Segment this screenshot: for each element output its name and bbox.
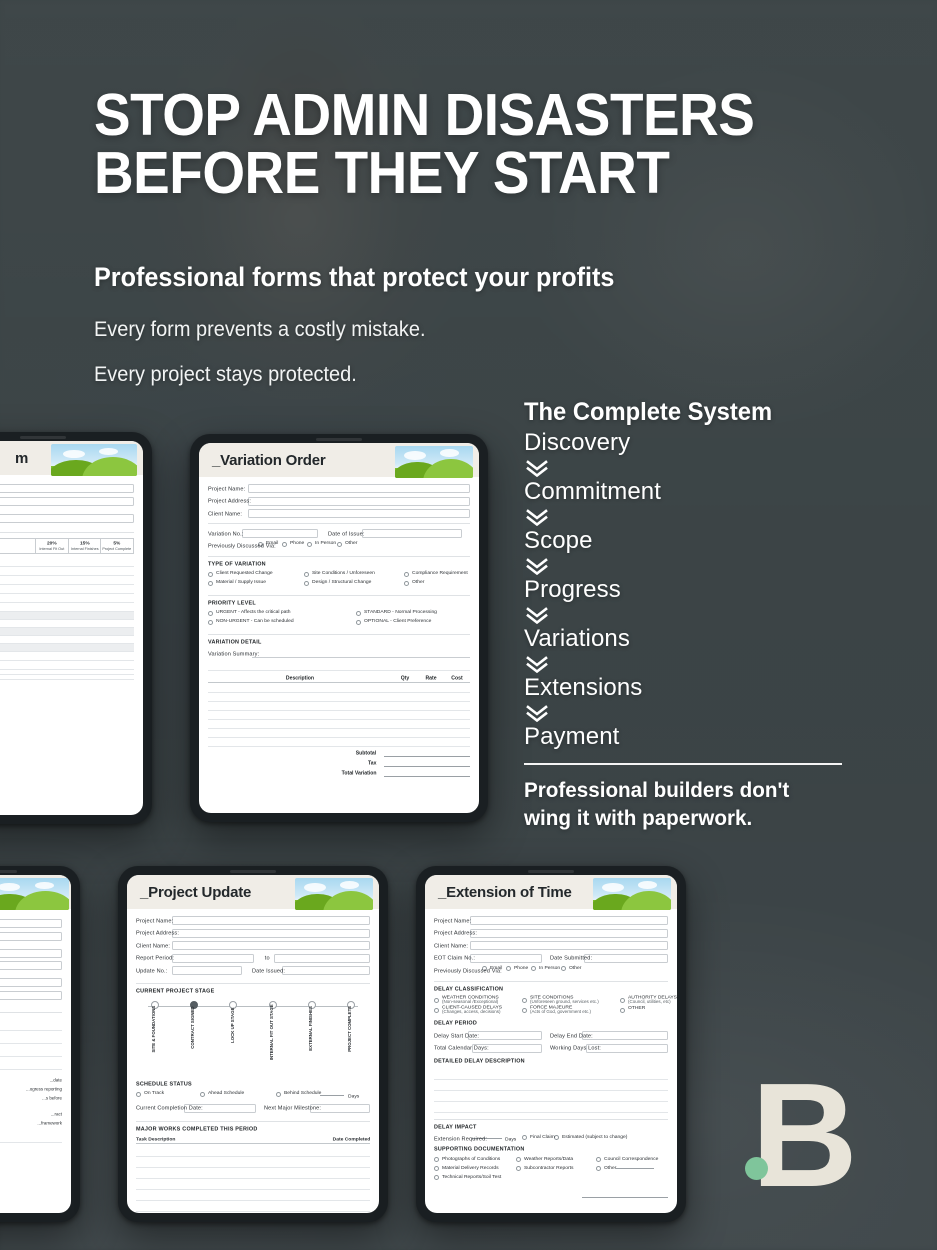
tablet-screen-variation-order: _Variation Order Project Name: Project A…: [199, 443, 479, 813]
text-input-field[interactable]: [0, 949, 62, 958]
form-row: Client Name:: [208, 509, 470, 518]
radio-icon: [276, 1092, 281, 1097]
field-label: Report Period:: [136, 955, 192, 961]
radio-icon: [434, 1166, 439, 1171]
radio-icon: [356, 620, 361, 625]
table-row[interactable]: [208, 720, 470, 729]
text-input-field[interactable]: [0, 991, 62, 1000]
radio-option-other[interactable]: Other: [337, 542, 353, 547]
radio-option[interactable]: FORCE MAJEURE (Acts of God, government e…: [522, 1007, 612, 1013]
form-row: [0, 991, 62, 1000]
field-label: Date Issued:: [252, 967, 299, 973]
radio-option-in-person[interactable]: In Person: [531, 966, 553, 971]
brand-letter: B: [751, 1062, 854, 1210]
radio-icon: [136, 1092, 141, 1097]
radio-icon: [596, 1166, 601, 1171]
impact-days-label: Days: [505, 1136, 516, 1142]
option-label: Subcontractor Reports: [524, 1166, 573, 1171]
ruled-row: [0, 661, 134, 670]
option-label: Material / Supply Issue: [216, 581, 266, 586]
system-step-discovery: Discovery: [524, 431, 854, 455]
radio-option[interactable]: AUTHORITY DELAYS (Council, utilities, et…: [620, 997, 660, 1003]
project-address-input[interactable]: [470, 929, 668, 938]
tax-input[interactable]: [384, 760, 470, 767]
description-line[interactable]: [434, 1102, 668, 1113]
option-label: Technical Reports/Soil Test: [442, 1175, 501, 1180]
option-label: Estimated (subject to change): [562, 1135, 627, 1140]
brand-logo: B: [745, 1068, 865, 1198]
form-body-partial: ...date ...ogress reporting ...s before …: [0, 909, 71, 1149]
field-label: Client Name:: [434, 942, 490, 948]
radio-option-final-claim[interactable]: Final Claim: [522, 1135, 546, 1140]
radio-option[interactable]: SITE CONDITIONS (Unforeseen ground, serv…: [522, 997, 612, 1003]
form-row: Update No.: Date Issued:: [136, 966, 370, 975]
radio-option[interactable]: Client Requested Change: [208, 572, 296, 577]
radio-icon: [516, 1157, 521, 1162]
form-row: [0, 949, 62, 958]
ruled-row: [0, 1044, 62, 1057]
table-row[interactable]: [208, 702, 470, 711]
section-title-delay-period: DELAY PERIOD: [434, 1020, 677, 1026]
option-label: In Person: [315, 542, 336, 547]
checkbox-option-other[interactable]: Other: [596, 1166, 654, 1171]
total-row: Tax: [208, 760, 470, 767]
form-row: Current Completion Date: Next Major Mile…: [136, 1104, 370, 1113]
radio-icon: [304, 572, 309, 577]
radio-option[interactable]: Site Conditions / Unforeseen: [304, 572, 396, 577]
checkbox-option[interactable]: Technical Reports/Soil Test: [434, 1175, 524, 1180]
system-step-progress: Progress: [524, 578, 854, 602]
divider: [136, 983, 370, 984]
option-label: Compliance Requirement: [412, 572, 468, 577]
option-label: Other: [604, 1166, 616, 1171]
ruled-row: [0, 612, 134, 620]
option-label: Email: [490, 966, 502, 971]
option-label: Phone: [290, 542, 304, 547]
milestone-cell: 5% Project Complete: [101, 539, 133, 553]
closer-line-1: Professional builders don't: [524, 777, 841, 805]
radio-icon: [404, 581, 409, 586]
total-label-subtotal: Subtotal: [356, 750, 376, 756]
tablet-mockup-project-update: _Project Update Project Name: Project Ad…: [118, 866, 388, 1222]
hero-headline-block: STOP ADMIN DISASTERS BEFORE THEY START: [94, 86, 884, 203]
stage-label: LOCK UP STAGE: [231, 1008, 236, 1043]
tablet-mockup-bottom-left-partial: ...date ...ogress reporting ...s before …: [0, 866, 80, 1222]
text-input-field[interactable]: [0, 978, 62, 987]
radio-icon: [620, 998, 625, 1003]
column-header-cost: Cost: [437, 674, 477, 680]
previously-discussed-group: Previously Discussed Via: Email Phone In…: [208, 542, 470, 551]
text-input-field[interactable]: [0, 484, 134, 493]
form-row: Project Address:: [208, 497, 470, 506]
option-label: Design / Structural Change: [312, 581, 371, 586]
radio-icon: [516, 1166, 521, 1171]
checkbox-option[interactable]: Council Correspondence: [596, 1157, 639, 1162]
closer-line-2: wing it with paperwork.: [524, 805, 841, 833]
project-name-input[interactable]: [248, 484, 470, 493]
form-row: Delay Start Date: Delay End Date:: [434, 1031, 668, 1040]
hero-tagline-2: Every project stays protected.: [94, 363, 759, 387]
section-title-type-of-variation: TYPE OF VARIATION: [208, 560, 479, 566]
radio-option-behind[interactable]: Behind Schedule: [276, 1092, 308, 1097]
radio-icon: [531, 966, 536, 971]
option-label: Material Delivery Records: [442, 1166, 499, 1171]
column-header-task: Task Description: [136, 1135, 175, 1141]
double-chevron-down-icon: [526, 459, 854, 477]
milestone-label: Project Complete: [96, 547, 137, 552]
project-address-input[interactable]: [172, 929, 370, 938]
radio-option-other[interactable]: Other: [561, 966, 577, 971]
schedule-days-input[interactable]: [320, 1095, 344, 1096]
stage-item[interactable]: LOCK UP STAGE: [218, 1001, 248, 1052]
radio-icon: [434, 1175, 439, 1180]
signature-line[interactable]: [582, 1190, 668, 1198]
table-row[interactable]: [136, 1201, 370, 1212]
table-row[interactable]: [136, 1146, 370, 1157]
hero-subheadline: Professional forms that protect your pro…: [94, 262, 816, 293]
field-label: Delay Start Date:: [434, 1033, 487, 1039]
radio-option[interactable]: NON-URGENT - Can be scheduled: [208, 620, 348, 625]
tablet-screen-progress-claim: m Claim Date:: [0, 441, 143, 815]
table-row[interactable]: [208, 729, 470, 738]
field-label: Client Name:: [208, 510, 270, 516]
divider: [434, 981, 668, 982]
checkbox-option[interactable]: Subcontractor Reports: [516, 1166, 588, 1171]
table-row[interactable]: [208, 693, 470, 702]
radio-option[interactable]: Other: [404, 581, 420, 586]
stage-item[interactable]: INTERNAL FIT OUT STAGE: [258, 1001, 288, 1052]
stage-item[interactable]: SITE & FOUNDATIONS: [140, 1001, 170, 1052]
ruled-row: [0, 628, 134, 636]
option-label: Behind Schedule: [284, 1092, 321, 1097]
ruled-row: [0, 576, 134, 585]
radio-option[interactable]: WEATHER CONDITIONS (Non-seasonal /Except…: [434, 997, 514, 1003]
note-line: ...date: [0, 1077, 62, 1083]
form-header-partial: [0, 875, 71, 909]
form-row: Variation No.: Date of Issue:: [208, 529, 470, 538]
form-row: Project Address:: [434, 929, 668, 938]
field-label: Project Address:: [208, 498, 270, 504]
project-name-input[interactable]: [172, 916, 370, 925]
option-label: Photographs of Conditions: [442, 1157, 500, 1162]
option-label: Email: [266, 542, 278, 547]
tablet-screen-extension-of-time: _Extension of Time Project Name: Project…: [425, 875, 677, 1213]
form-body-progress-claim: Claim Date: 20% Deposit & Drawings 20% I…: [0, 475, 143, 686]
ruled-row: [0, 1031, 62, 1044]
option-label: NON-URGENT - Can be scheduled: [216, 620, 294, 625]
form-header-variation-order: _Variation Order: [199, 443, 479, 477]
column-header-date: Date Completed: [332, 1135, 370, 1141]
schedule-days-label: Days: [348, 1093, 359, 1099]
form-row: [0, 978, 62, 987]
schedule-status-group: On Track Ahead Schedule Behind Schedule …: [136, 1092, 370, 1101]
system-step-extensions: Extensions: [524, 676, 854, 700]
radio-option-in-person[interactable]: In Person: [307, 542, 329, 547]
stage-label: PROJECT COMPLETE: [348, 1006, 353, 1052]
field-label: Update No.:: [136, 967, 192, 973]
variation-summary-input[interactable]: [252, 650, 470, 658]
form-row: Client Name:: [136, 941, 370, 950]
field-label: Total Calendar Days:: [434, 1045, 493, 1051]
works-table-header: Task Description Date Completed: [136, 1137, 370, 1144]
radio-icon: [561, 966, 566, 971]
field-label: Extension Required:: [434, 1136, 490, 1142]
option-label: In Person: [539, 966, 560, 971]
radio-icon: [522, 1008, 527, 1013]
option-label: Other: [345, 542, 357, 547]
table-row[interactable]: [208, 738, 470, 747]
note-line: ...ogress reporting: [0, 1086, 62, 1092]
form-header-landscape-art: [395, 446, 473, 478]
milestone-percent: 5%: [95, 540, 139, 546]
radio-icon: [554, 1135, 559, 1140]
form-row: EOT Claim No.: Date Submitted:: [434, 954, 668, 963]
option-label: FORCE MAJEURE (Acts of God, government e…: [530, 1005, 591, 1014]
previously-discussed-group: Previously Discussed Via: Email Phone In…: [434, 966, 668, 975]
option-label: CLIENT-CAUSED DELAYS (Changes, access, d…: [442, 1005, 502, 1014]
radio-icon: [200, 1092, 205, 1097]
supporting-documentation-group: Photographs of Conditions Weather Report…: [434, 1157, 668, 1184]
section-title-detailed-delay-description: DETAILED DELAY DESCRIPTION: [434, 1058, 677, 1064]
option-label: Other: [569, 966, 581, 971]
radio-icon: [304, 581, 309, 586]
milestone-percentage-table: 20% Deposit & Drawings 20% Internal Fit …: [0, 538, 134, 554]
radio-option[interactable]: OPTIONAL - Client Preference: [356, 620, 407, 625]
field-label: Variation Summary:: [208, 650, 276, 656]
checkbox-option[interactable]: Photographs of Conditions: [434, 1157, 508, 1162]
form-body-project-update: Project Name: Project Address: Client Na…: [127, 909, 379, 1213]
radio-icon: [208, 620, 213, 625]
stage-label: SITE & FOUNDATIONS: [152, 1006, 157, 1053]
divider: [0, 532, 134, 533]
claim-date-input[interactable]: [0, 514, 134, 523]
total-label-total-variation: Total Variation: [341, 770, 376, 776]
divider: [208, 556, 470, 557]
ruled-row: [0, 644, 134, 652]
other-text-input[interactable]: [616, 1168, 654, 1169]
stage-item[interactable]: PROJECT COMPLETE: [336, 1001, 366, 1052]
field-label: Project Name:: [136, 917, 192, 923]
total-row: Total Variation: [208, 770, 470, 777]
ruled-row: [0, 567, 134, 576]
system-step-scope: Scope: [524, 529, 854, 553]
radio-option-phone[interactable]: Phone: [506, 966, 523, 971]
radio-icon: [596, 1157, 601, 1162]
text-input-field[interactable]: [0, 497, 134, 506]
divider: [208, 634, 470, 635]
table-row[interactable]: [208, 711, 470, 720]
option-label: Council Correspondence: [604, 1157, 658, 1162]
note-line: ...ract: [0, 1111, 62, 1117]
section-title-priority-level: PRIORITY LEVEL: [208, 599, 479, 605]
radio-option[interactable]: STANDARD - Normal Processing: [356, 611, 411, 616]
radio-icon: [434, 1157, 439, 1162]
delay-classification-group: WEATHER CONDITIONS (Non-seasonal /Except…: [434, 997, 668, 1017]
form-header-extension-of-time: _Extension of Time: [425, 875, 677, 909]
total-row: Subtotal: [208, 750, 470, 757]
stage-item[interactable]: EXTERNAL FINISHES: [297, 1001, 327, 1052]
radio-option-estimated[interactable]: Estimated (subject to change): [554, 1135, 604, 1140]
field-label: Project Address:: [136, 930, 192, 936]
total-variation-input[interactable]: [384, 770, 470, 777]
field-label: Project Address:: [434, 930, 490, 936]
section-title-current-project-stage: CURRENT PROJECT STAGE: [136, 988, 379, 994]
form-row: Project Address:: [136, 929, 370, 938]
stage-row: SITE & FOUNDATIONS CONTRACT SIGNED LOCK …: [140, 1001, 366, 1052]
radio-option-ahead[interactable]: Ahead Schedule: [200, 1092, 268, 1097]
project-address-input[interactable]: [248, 497, 470, 506]
radio-icon: [356, 611, 361, 616]
field-label: Client Name:: [136, 942, 192, 948]
option-label: Final Claim: [530, 1135, 555, 1140]
description-line[interactable]: [434, 1080, 668, 1091]
checkbox-option[interactable]: Weather Reports/Data: [516, 1157, 588, 1162]
divider: [0, 1012, 62, 1013]
ruled-row: [0, 1018, 62, 1031]
headline-line-1: STOP ADMIN DISASTERS: [94, 86, 829, 144]
ruled-row: [0, 603, 134, 612]
text-input-field[interactable]: [0, 961, 62, 970]
double-chevron-down-icon: [526, 606, 854, 624]
option-label: AUTHORITY DELAYS (Council, utilities, et…: [628, 995, 677, 1004]
table-row[interactable]: [136, 1190, 370, 1201]
totals-block: Subtotal Tax Total Variation: [208, 750, 470, 777]
horizontal-divider: [524, 763, 842, 765]
option-label: Ahead Schedule: [208, 1092, 244, 1097]
project-name-input[interactable]: [470, 916, 668, 925]
tablet-mockup-extension-of-time: _Extension of Time Project Name: Project…: [416, 866, 686, 1222]
radio-option[interactable]: Design / Structural Change: [304, 581, 396, 586]
ruled-row: [0, 585, 134, 594]
form-row: Claim Date:: [0, 514, 134, 523]
radio-option-on-track[interactable]: On Track: [136, 1092, 192, 1097]
form-header-progress-claim: m: [0, 441, 143, 475]
field-label: Variation No.:: [208, 530, 261, 536]
section-title-variation-detail: VARIATION DETAIL: [208, 638, 479, 644]
option-label: Other: [412, 581, 424, 586]
radio-option[interactable]: OTHER: [620, 1007, 639, 1013]
radio-icon: [620, 1008, 625, 1013]
form-header-project-update: _Project Update: [127, 875, 379, 909]
ruled-row: [0, 1057, 62, 1070]
option-label: OPTIONAL - Client Preference: [364, 620, 431, 625]
field-label: to: [258, 955, 277, 961]
ruled-row: [208, 664, 470, 671]
radio-icon: [208, 611, 213, 616]
table-row[interactable]: [208, 684, 470, 693]
system-step-variations: Variations: [524, 627, 854, 651]
field-label: EOT Claim No.:: [434, 955, 490, 961]
radio-icon: [337, 542, 342, 547]
ruled-row: [0, 594, 134, 603]
radio-icon: [208, 572, 213, 577]
client-name-input[interactable]: [248, 509, 470, 518]
form-row: Total Calendar Days: Working Days Lost:: [434, 1044, 668, 1053]
radio-icon: [434, 1008, 439, 1013]
description-line[interactable]: [434, 1091, 668, 1102]
checkbox-option[interactable]: Material Delivery Records: [434, 1166, 508, 1171]
form-row: [0, 919, 62, 928]
radio-option[interactable]: URGENT - Affects the critical path: [208, 611, 348, 616]
complete-system-panel: The Complete System Discovery Commitment…: [524, 398, 854, 832]
radio-option[interactable]: Material / Supply Issue: [208, 581, 296, 586]
option-label: Weather Reports/Data: [524, 1157, 573, 1162]
form-row: Variation Summary:: [208, 650, 470, 658]
radio-icon: [307, 542, 312, 547]
system-step-commitment: Commitment: [524, 480, 854, 504]
report-period-to-input[interactable]: [274, 954, 370, 963]
double-chevron-down-icon: [526, 655, 854, 673]
divider: [136, 1121, 370, 1122]
description-line[interactable]: [434, 1069, 668, 1080]
table-row[interactable]: [136, 1168, 370, 1179]
form-header-landscape-art: [0, 878, 69, 910]
field-label: Working Days Lost:: [550, 1045, 606, 1051]
radio-icon: [522, 998, 527, 1003]
line-items-table-header: Description Qty Rate Cost: [208, 676, 470, 683]
complete-system-title: The Complete System: [524, 398, 838, 427]
field-label: Project Name:: [434, 917, 490, 923]
table-row[interactable]: [136, 1157, 370, 1168]
form-body-extension-of-time: Project Name: Project Address: Client Na…: [425, 909, 677, 1204]
delay-impact-group: Extension Required: Days Final Claim Est…: [434, 1135, 668, 1144]
form-title-project-update: _Project Update: [127, 884, 251, 901]
double-chevron-down-icon: [526, 508, 854, 526]
form-title-extension-of-time: _Extension of Time: [425, 884, 572, 901]
tablet-mockup-variation-order: _Variation Order Project Name: Project A…: [190, 434, 488, 822]
form-title-variation-order: _Variation Order: [199, 452, 326, 469]
priority-level-group: URGENT - Affects the critical path STAND…: [208, 611, 470, 629]
note-line: ...s before: [0, 1095, 62, 1101]
table-row[interactable]: [136, 1179, 370, 1190]
text-input-field[interactable]: [0, 919, 62, 928]
radio-option[interactable]: CLIENT-CAUSED DELAYS (Changes, access, d…: [434, 1007, 514, 1013]
section-title-schedule-status: SCHEDULE STATUS: [136, 1080, 379, 1086]
option-label: Client Requested Change: [216, 572, 273, 577]
stage-item[interactable]: CONTRACT SIGNED: [179, 1001, 209, 1052]
hero-tagline-1: Every form prevents a costly mistake.: [94, 318, 759, 342]
promotional-poster: m Claim Date:: [0, 0, 937, 1250]
double-chevron-down-icon: [526, 704, 854, 722]
tablet-screen-project-update: _Project Update Project Name: Project Ad…: [127, 875, 379, 1213]
form-row: Client Name:: [434, 941, 668, 950]
client-name-input[interactable]: [470, 941, 668, 950]
radio-icon: [434, 998, 439, 1003]
form-row: [0, 961, 62, 970]
ruled-row: [0, 620, 134, 628]
section-title-major-works: MAJOR WORKS COMPLETED THIS PERIOD: [136, 1125, 379, 1131]
field-label: Date of Issue:: [328, 530, 381, 536]
option-label: Phone: [514, 966, 528, 971]
client-name-input[interactable]: [172, 941, 370, 950]
option-label: Site Conditions / Unforeseen: [312, 572, 375, 577]
form-row: [0, 497, 134, 506]
headline-line-2: BEFORE THEY START: [94, 144, 829, 202]
form-row: [0, 484, 134, 493]
option-label: OTHER: [628, 1006, 645, 1011]
field-label: Current Completion Date:: [136, 1105, 210, 1111]
option-label: STANDARD - Normal Processing: [364, 611, 437, 616]
subtotal-input[interactable]: [384, 750, 470, 757]
section-title-delay-classification: DELAY CLASSIFICATION: [434, 986, 677, 992]
text-input-field[interactable]: [0, 932, 62, 941]
form-row: Project Name:: [208, 484, 470, 493]
brand-accent-dot-icon: [745, 1157, 768, 1180]
radio-icon: [208, 581, 213, 586]
radio-option[interactable]: Compliance Requirement: [404, 572, 448, 577]
form-row: Report Period: to: [136, 954, 370, 963]
ruled-row: [0, 652, 134, 661]
